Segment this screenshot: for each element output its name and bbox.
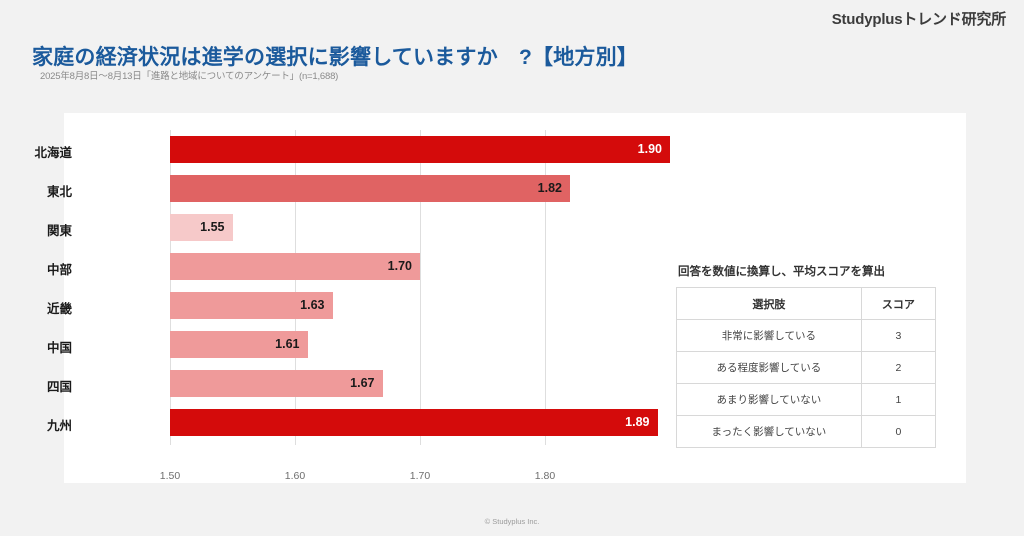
score-table-body: 非常に影響している3ある程度影響している2あまり影響していない1まったく影響して… [677,320,936,448]
value-tick-label: 1.60 [285,470,305,482]
bar[interactable] [170,175,570,202]
category-label: 近畿 [0,298,72,317]
score-panel-caption: 回答を数値に換算し、平均スコアを算出 [678,263,938,279]
bar-value-label: 1.89 [614,409,650,436]
category-label: 関東 [0,220,72,239]
cell-choice: あまり影響していない [677,384,862,416]
value-tick-label: 1.70 [410,470,430,482]
bar-row[interactable]: 1.89 [170,403,670,442]
score-legend-panel: 回答を数値に換算し、平均スコアを算出 選択肢 スコア 非常に影響している3ある程… [676,263,938,448]
cell-choice: 非常に影響している [677,320,862,352]
bar-value-label: 1.61 [264,331,300,358]
cell-score: 2 [861,352,935,384]
bar-value-label: 1.82 [526,175,562,202]
cell-choice: まったく影響していない [677,416,862,448]
column-header-score: スコア [861,288,935,320]
category-label: 北海道 [0,142,72,161]
bar-row[interactable]: 1.63 [170,286,670,325]
table-row: まったく影響していない0 [677,416,936,448]
category-label: 中部 [0,259,72,278]
plot-area: 1.901.821.551.701.631.611.671.89 1.501.6… [170,130,670,445]
bar-value-label: 1.55 [189,214,225,241]
value-tick-label: 1.80 [535,470,555,482]
bar-value-label: 1.90 [626,136,662,163]
category-label: 中国 [0,337,72,356]
table-header-row: 選択肢 スコア [677,288,936,320]
score-table: 選択肢 スコア 非常に影響している3ある程度影響している2あまり影響していない1… [676,287,936,448]
table-row: ある程度影響している2 [677,352,936,384]
cell-choice: ある程度影響している [677,352,862,384]
table-row: 非常に影響している3 [677,320,936,352]
bar[interactable] [170,136,670,163]
content-card: 北海道東北関東中部近畿中国四国九州 1.901.821.551.701.631.… [64,113,966,483]
category-label: 四国 [0,376,72,395]
page-title: 家庭の経済状況は進学の選択に影響していますか ?【地方別】 [32,41,638,71]
table-row: あまり影響していない1 [677,384,936,416]
bar-row[interactable]: 1.82 [170,169,670,208]
bar-row[interactable]: 1.61 [170,325,670,364]
category-label: 東北 [0,181,72,200]
bar-row[interactable]: 1.67 [170,364,670,403]
cell-score: 1 [861,384,935,416]
page-subtitle: 2025年8月8日～8月13日「進路と地域についてのアンケート」(n=1,688… [40,68,338,82]
value-tick-label: 1.50 [160,470,180,482]
bar-chart: 北海道東北関東中部近畿中国四国九州 1.901.821.551.701.631.… [64,113,684,483]
bar-value-label: 1.63 [289,292,325,319]
cell-score: 0 [861,416,935,448]
cell-score: 3 [861,320,935,352]
category-label: 九州 [0,415,72,434]
column-header-choice: 選択肢 [677,288,862,320]
bar[interactable] [170,409,658,436]
bar-value-label: 1.70 [376,253,412,280]
bar-row[interactable]: 1.70 [170,247,670,286]
footer-copyright: © Studyplus Inc. [0,517,1024,526]
bar-row[interactable]: 1.55 [170,208,670,247]
bar-row[interactable]: 1.90 [170,130,670,169]
bar-value-label: 1.67 [339,370,375,397]
brand-label: Studyplusトレンド研究所 [832,8,1006,29]
